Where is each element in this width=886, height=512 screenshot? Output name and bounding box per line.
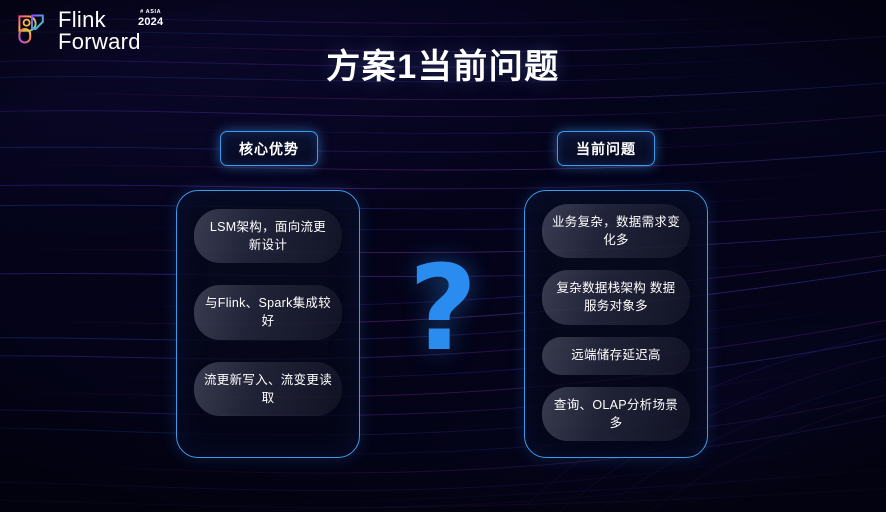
logo-badge-year: 2024 [138,17,163,28]
list-item: 与Flink、Spark集成较好 [194,285,342,339]
panel-core-advantages: LSM架构，面向流更新设计 与Flink、Spark集成较好 流更新写入、流变更… [176,190,360,458]
page-title: 方案1当前问题 [0,39,886,88]
list-item: 查询、OLAP分析场景多 [542,387,690,441]
list-item: 远端储存延迟高 [542,337,690,375]
logo-event-badge: # ASIA 2024 [138,10,163,28]
list-item: LSM架构，面向流更新设计 [194,209,342,263]
badge-core-advantages: 核心优势 [220,131,318,166]
slide-root: Flink Forward # ASIA 2024 方案1当前问题 核心优势 当… [0,0,886,512]
panel-current-issues: 业务复杂，数据需求变化多 复杂数据栈架构 数据服务对象多 远端储存延迟高 查询、… [524,190,708,458]
question-mark-icon: ? [398,248,488,368]
logo-badge-event: # ASIA [138,10,163,16]
list-item: 流更新写入、流变更读取 [194,362,342,416]
badge-current-issues: 当前问题 [557,131,655,166]
badge-core-advantages-label: 核心优势 [239,139,299,159]
list-item: 复杂数据栈架构 数据服务对象多 [542,270,690,324]
badge-current-issues-label: 当前问题 [576,139,636,159]
list-item: 业务复杂，数据需求变化多 [542,204,690,258]
